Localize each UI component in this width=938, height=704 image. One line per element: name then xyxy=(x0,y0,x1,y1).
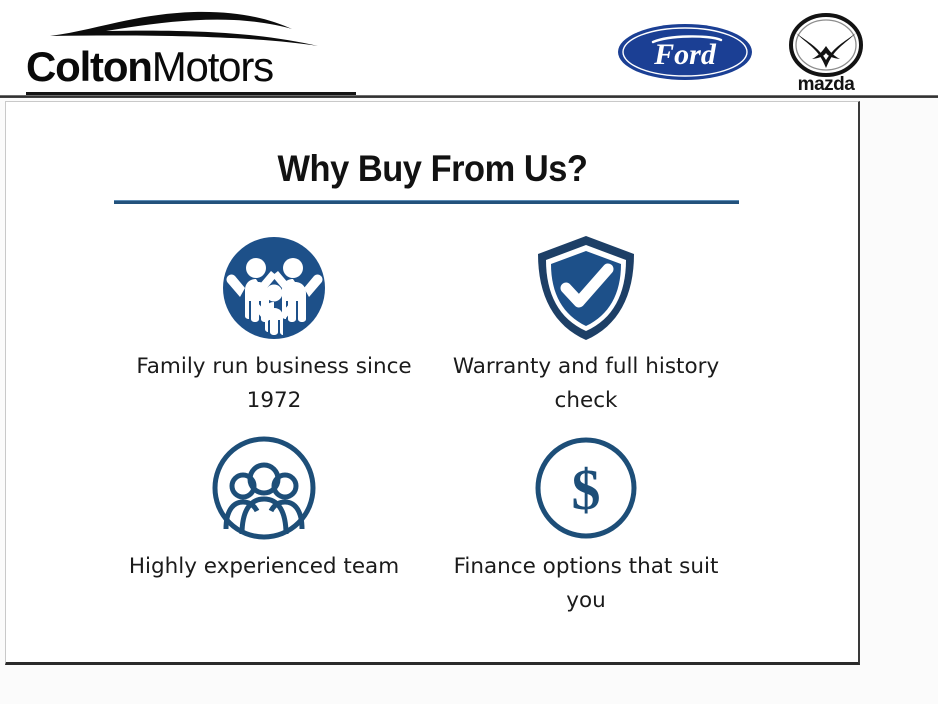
page-title: Why Buy From Us? xyxy=(36,148,829,190)
slide-canvas: ColtonMotors Ford mazda Why Buy From Us? xyxy=(0,0,938,704)
ford-logo[interactable]: Ford xyxy=(617,22,753,82)
ford-wordmark: Ford xyxy=(653,38,717,71)
mazda-logo[interactable]: mazda xyxy=(782,12,870,94)
title-underline xyxy=(114,200,739,204)
feature-label: Warranty and full history check xyxy=(436,350,736,418)
feature-label: Family run business since 1972 xyxy=(124,350,424,418)
colton-motors-logo[interactable]: ColtonMotors xyxy=(26,8,356,90)
brand-name-bold: Colton xyxy=(26,43,152,90)
header-divider xyxy=(0,95,938,98)
feature-item-family: Family run business since 1972 xyxy=(124,234,424,418)
brand-name-light: Motors xyxy=(152,43,273,90)
feature-item-warranty: Warranty and full history check xyxy=(436,234,736,418)
feature-label: Highly experienced team xyxy=(114,550,414,584)
family-circle-icon xyxy=(124,234,424,342)
features-grid: Family run business since 1972 Warranty … xyxy=(6,234,859,654)
page-header: ColtonMotors Ford mazda xyxy=(0,0,938,97)
why-buy-panel: Why Buy From Us? xyxy=(5,101,860,665)
team-group-circle-icon xyxy=(114,434,414,542)
feature-item-team: Highly experienced team xyxy=(114,434,414,584)
shield-check-icon xyxy=(436,234,736,342)
svg-text:$: $ xyxy=(572,457,601,522)
feature-item-finance: $ Finance options that suit you xyxy=(436,434,736,618)
mazda-wordmark: mazda xyxy=(798,74,856,94)
dollar-circle-icon: $ xyxy=(436,434,736,542)
feature-label: Finance options that suit you xyxy=(436,550,736,618)
brand-wordmark: ColtonMotors xyxy=(26,44,356,90)
